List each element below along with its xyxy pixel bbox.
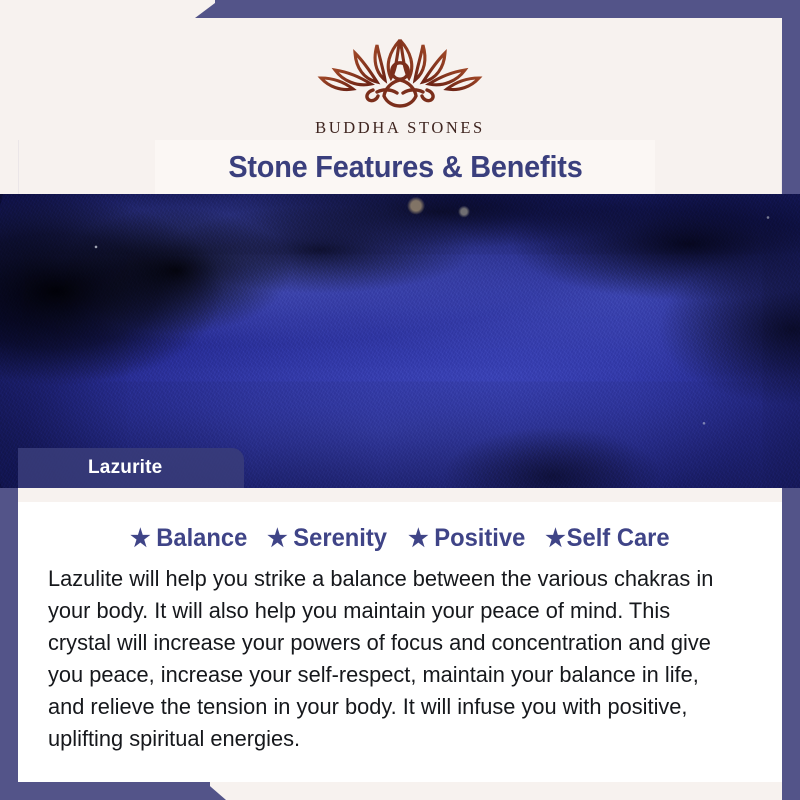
benefit-item-balance: ★ Balance xyxy=(130,524,247,553)
benefit-item-positive: ★ Positive xyxy=(408,524,525,553)
cream-gap-strip xyxy=(18,488,782,502)
benefits-row: ★ Balance ★ Serenity ★ Positive ★ Self C… xyxy=(18,524,782,553)
star-icon: ★ xyxy=(268,527,288,551)
content-panel: ★ Balance ★ Serenity ★ Positive ★ Self C… xyxy=(18,502,782,782)
benefit-item-serenity: ★ Serenity xyxy=(268,524,388,553)
benefit-label: Serenity xyxy=(294,524,388,553)
poster-root: BUDDHA STONES Stone Features & Benefits … xyxy=(0,0,800,800)
title-band: Stone Features & Benefits xyxy=(155,140,655,194)
top-navy-band xyxy=(215,0,800,18)
benefit-item-self-care: ★ Self Care xyxy=(545,524,669,553)
star-icon: ★ xyxy=(545,527,565,551)
benefit-label: Self Care xyxy=(567,524,670,553)
left-navy-edge xyxy=(0,488,18,800)
stone-name-tag: Lazurite xyxy=(18,448,244,488)
brand-header: BUDDHA STONES xyxy=(18,18,782,140)
stone-vignette-layer xyxy=(0,194,800,488)
page-title: Stone Features & Benefits xyxy=(228,149,582,185)
benefit-label: Balance xyxy=(156,524,247,553)
lotus-meditation-figure-icon xyxy=(311,26,489,117)
stone-description: Lazulite will help you strike a balance … xyxy=(48,563,727,755)
benefit-label: Positive xyxy=(434,524,525,553)
star-icon: ★ xyxy=(408,527,428,551)
brand-name: BUDDHA STONES xyxy=(315,118,485,138)
star-icon: ★ xyxy=(130,527,150,551)
stone-name-label: Lazurite xyxy=(88,457,162,479)
stone-photo xyxy=(0,194,800,488)
